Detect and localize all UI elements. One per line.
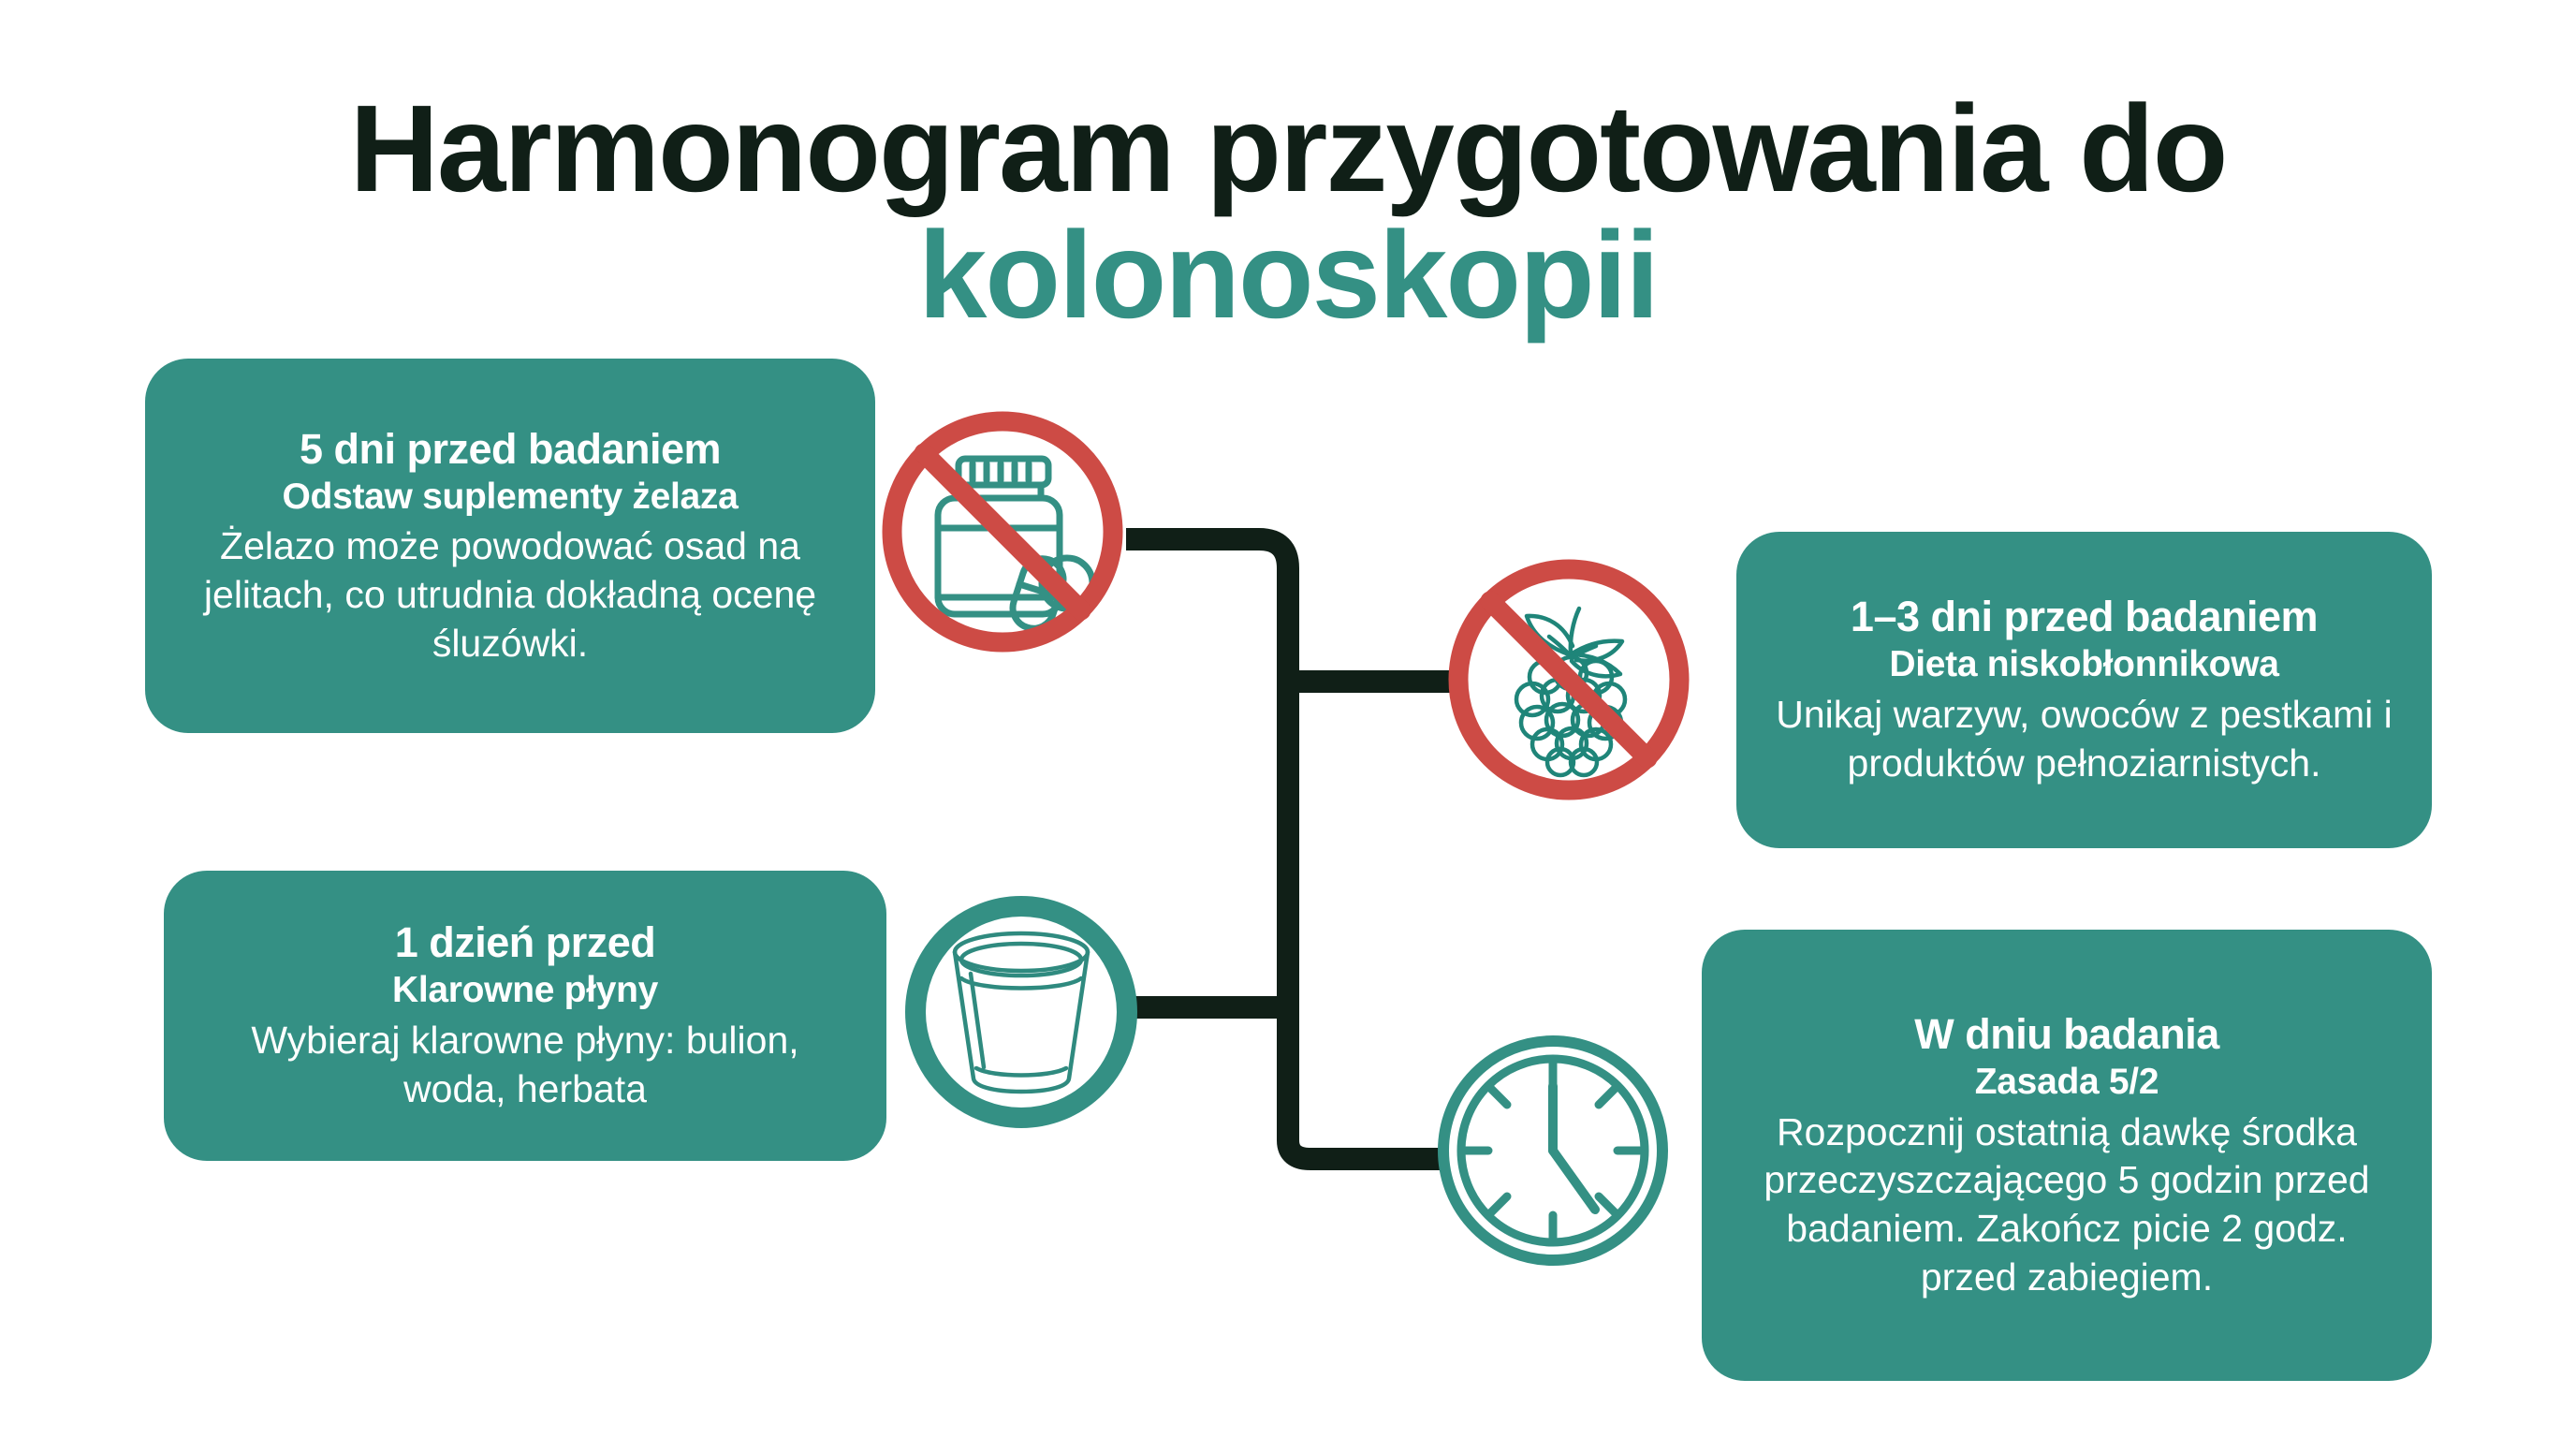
- page-title-line-1: Harmonogram przygotowania do: [0, 86, 2576, 213]
- no-supplements-icon: [880, 409, 1125, 654]
- step-subheading: Zasada 5/2: [1975, 1061, 2159, 1105]
- step-card-5-days: 5 dni przed badaniem Odstaw suplementy ż…: [145, 359, 875, 733]
- step-heading: 1–3 dni przed badaniem: [1851, 592, 2318, 641]
- step-body: Wybieraj klarowne płyny: bulion, woda, h…: [196, 1017, 855, 1113]
- prohibition-sign: [892, 421, 1113, 642]
- step-subheading: Klarowne płyny: [392, 969, 658, 1013]
- infographic-canvas: Harmonogram przygotowania do kolonoskopi…: [0, 0, 2576, 1438]
- step-heading: W dniu badania: [1914, 1009, 2219, 1059]
- step-body: Żelazo może powodować osad na jelitach, …: [177, 522, 843, 668]
- connector-branch-top-left: [1126, 539, 1447, 1159]
- water-glass-icon: [903, 894, 1139, 1130]
- step-subheading: Odstaw suplementy żelaza: [283, 476, 739, 520]
- step-heading: 1 dzień przed: [395, 917, 656, 967]
- clock-icon: [1430, 1028, 1676, 1273]
- step-body: Rozpocznij ostatnią dawkę środka przeczy…: [1734, 1108, 2400, 1302]
- step-card-exam-day: W dniu badania Zasada 5/2 Rozpocznij ost…: [1702, 930, 2432, 1381]
- page-title: Harmonogram przygotowania do kolonoskopi…: [0, 86, 2576, 338]
- step-body: Unikaj warzyw, owoców z pestkami i produ…: [1768, 691, 2400, 787]
- clock-hour-hand: [1553, 1151, 1595, 1210]
- page-title-line-2: kolonoskopii: [0, 213, 2576, 339]
- step-heading: 5 dni przed badaniem: [300, 424, 721, 474]
- step-subheading: Dieta niskobłonnikowa: [1889, 643, 2278, 687]
- no-berry-icon: [1446, 557, 1691, 802]
- icon-ring: [915, 906, 1127, 1118]
- step-card-1-3-days: 1–3 dni przed badaniem Dieta niskobłonni…: [1736, 532, 2432, 848]
- glass-glyph: [955, 933, 1088, 1092]
- step-card-1-day: 1 dzień przed Klarowne płyny Wybieraj kl…: [164, 871, 886, 1161]
